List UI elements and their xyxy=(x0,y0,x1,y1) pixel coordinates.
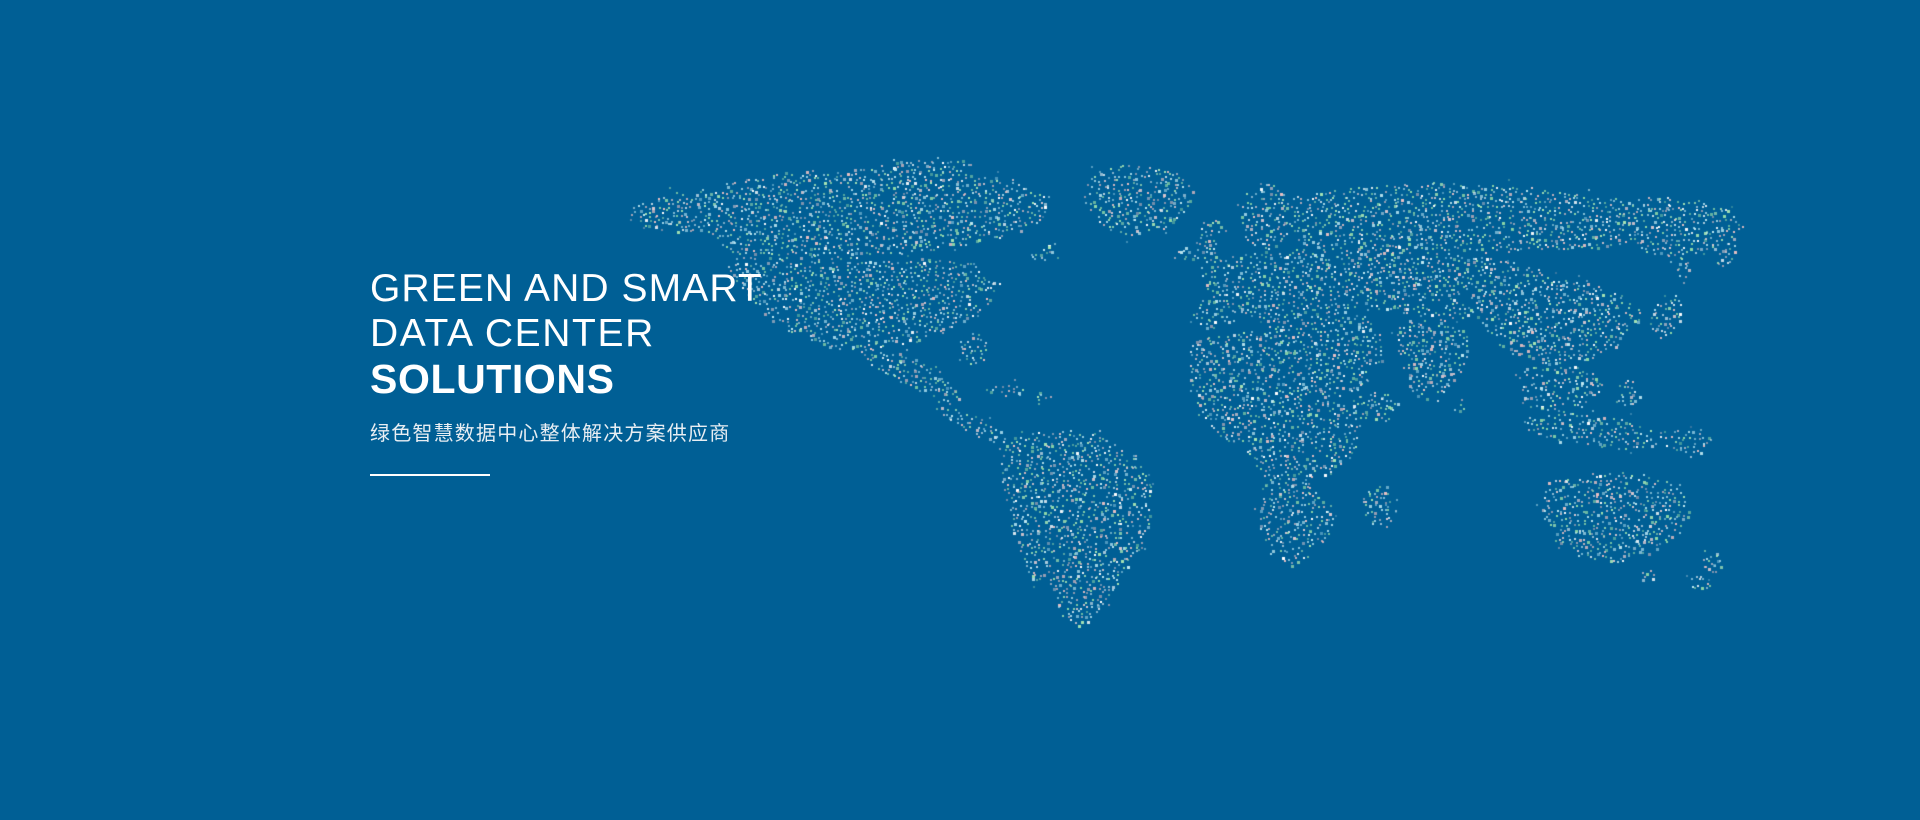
world-dot-map xyxy=(0,0,1920,820)
hero-banner: GREEN AND SMART DATA CENTER SOLUTIONS 绿色… xyxy=(0,0,1920,820)
world-map-canvas xyxy=(0,0,1920,820)
hero-divider-rule xyxy=(370,474,490,476)
headline-line-3: SOLUTIONS xyxy=(370,357,890,402)
hero-subtitle: 绿色智慧数据中心整体解决方案供应商 xyxy=(370,420,890,448)
headline-line-2: DATA CENTER xyxy=(370,311,890,356)
headline-line-1: GREEN AND SMART xyxy=(370,266,890,311)
hero-text-block: GREEN AND SMART DATA CENTER SOLUTIONS 绿色… xyxy=(370,266,890,476)
